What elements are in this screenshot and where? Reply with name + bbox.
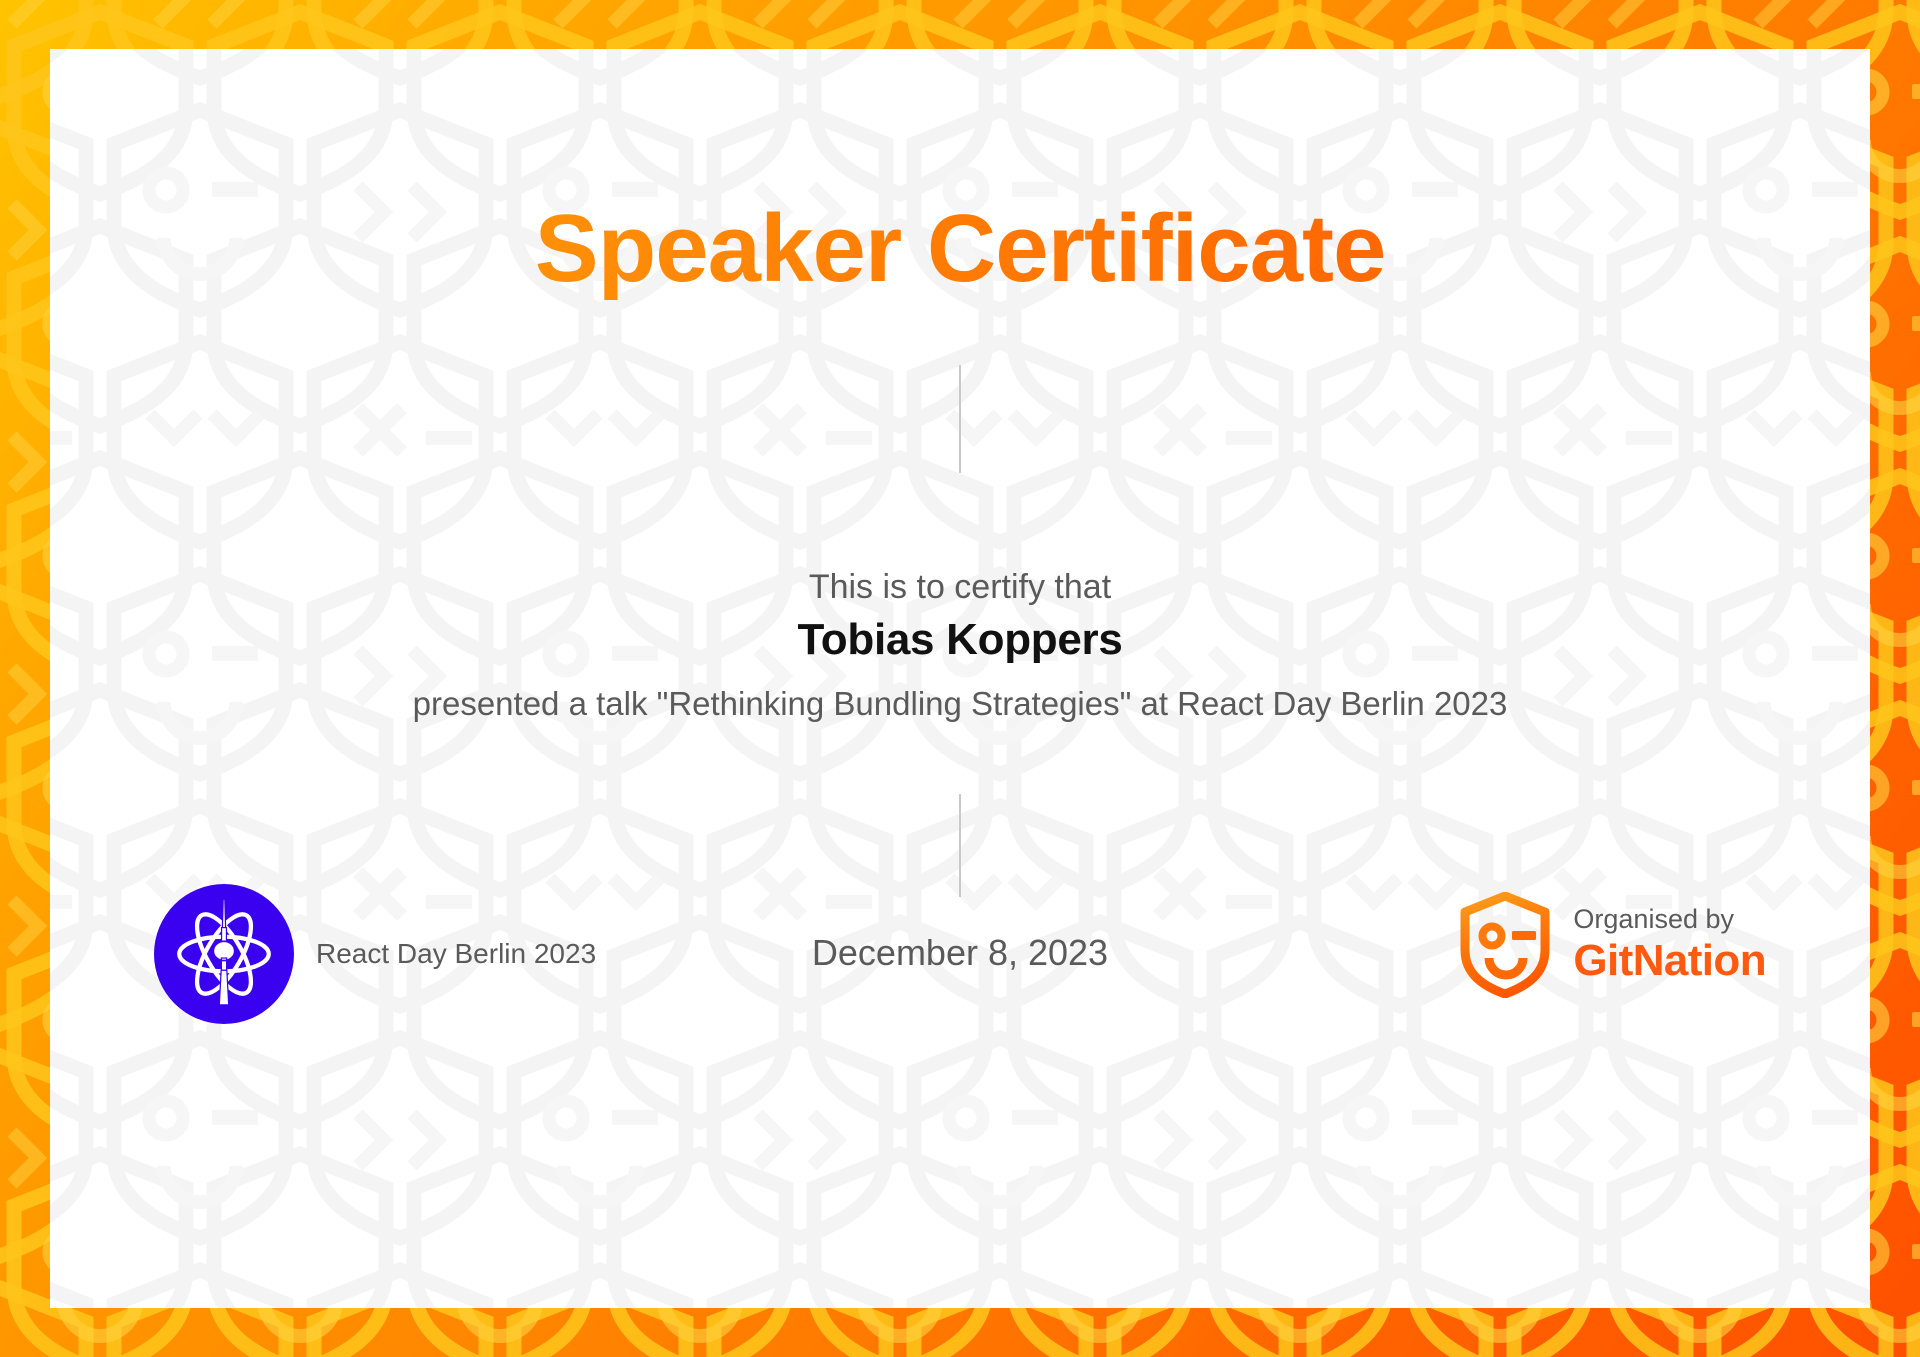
page-title: Speaker Certificate — [50, 199, 1870, 300]
certificate-footer: React Day Berlin 2023 December 8, 2023 — [50, 884, 1870, 1044]
organised-by-label: Organised by — [1573, 904, 1766, 935]
talk-description: presented a talk "Rethinking Bundling St… — [50, 685, 1870, 723]
gitnation-shield-icon — [1459, 892, 1551, 998]
divider-top — [959, 365, 961, 473]
certificate: Speaker Certificate This is to certify t… — [0, 0, 1920, 1357]
organiser-text: Organised by GitNation — [1573, 904, 1766, 985]
certificate-card: Speaker Certificate This is to certify t… — [50, 49, 1870, 1308]
organiser-block: Organised by GitNation — [1459, 892, 1766, 998]
organiser-name: GitNation — [1573, 937, 1766, 985]
recipient-name: Tobias Koppers — [50, 615, 1870, 665]
certify-line: This is to certify that — [50, 568, 1870, 607]
divider-bottom — [959, 794, 961, 897]
